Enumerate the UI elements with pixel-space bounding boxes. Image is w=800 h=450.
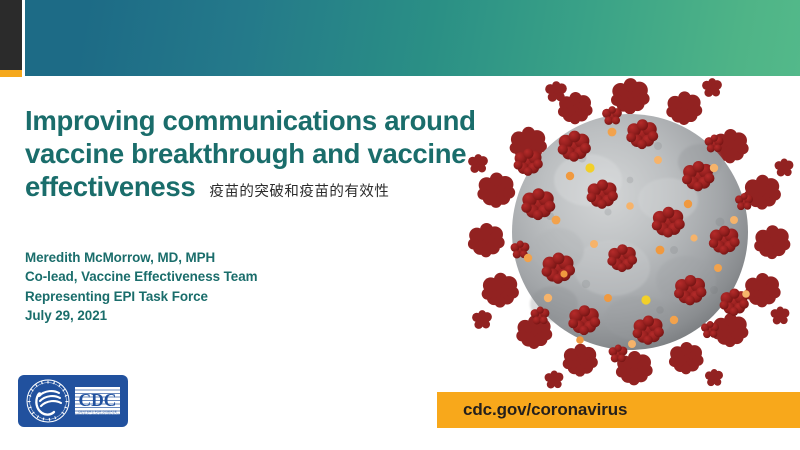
corner-dark-block	[0, 0, 22, 70]
footer-url-bar[interactable]: cdc.gov/coronavirus	[437, 392, 800, 428]
cdc-logo: CDC CENTERS FOR DISEASE CONTROL AND PREV…	[18, 375, 128, 427]
presentation-date: July 29, 2021	[25, 306, 425, 325]
presenter-name: Meredith McMorrow, MD, MPH	[25, 248, 425, 267]
presentation-slide: Improving communications around vaccine …	[0, 0, 800, 450]
corner-orange-accent	[0, 70, 22, 77]
title-line-1: Improving communications around	[25, 104, 477, 137]
presenter-info: Meredith McMorrow, MD, MPH Co-lead, Vacc…	[25, 248, 425, 326]
title-line-3-row: effectiveness 疫苗的突破和疫苗的有效性	[25, 170, 477, 203]
cdc-wordmark-text: CDC	[79, 390, 117, 410]
cdc-wordmark: CDC CENTERS FOR DISEASE CONTROL AND PREV…	[75, 387, 121, 416]
presenter-affiliation: Representing EPI Task Force	[25, 287, 425, 306]
slide-title: Improving communications around vaccine …	[25, 104, 477, 203]
header-gradient-band	[25, 0, 800, 76]
cdc-tagline-line2: CONTROL AND PREVENTION	[75, 412, 121, 416]
title-line-2: vaccine breakthrough and vaccine	[25, 137, 477, 170]
footer-url-text: cdc.gov/coronavirus	[437, 400, 627, 420]
title-translation-chinese: 疫苗的突破和疫苗的有效性	[209, 183, 389, 201]
sars-cov-2-virus-illustration	[462, 72, 798, 394]
title-line-3: effectiveness	[25, 170, 195, 203]
presenter-role: Co-lead, Vaccine Effectiveness Team	[25, 267, 425, 286]
